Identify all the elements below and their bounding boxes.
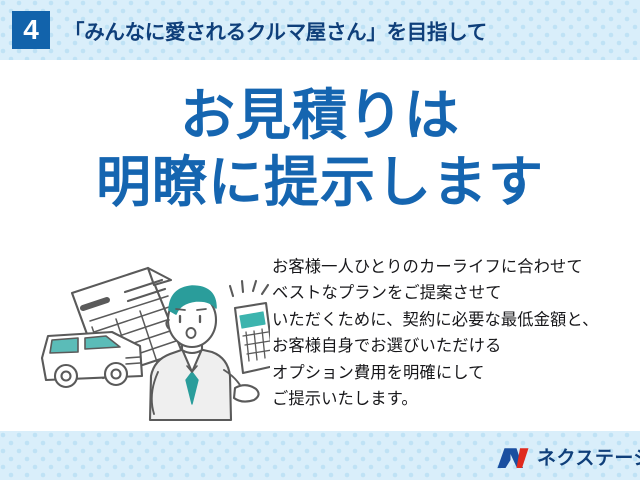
body-line: ご提示いたします。 (272, 386, 632, 412)
header-bar: 4 「みんなに愛されるクルマ屋さん」を目指して (0, 0, 640, 59)
brand-logo: ネクステージ (496, 447, 640, 469)
body-copy: お客様一人ひとりのカーライフに合わせて ベストなプランをご提案させて いただくた… (272, 254, 632, 412)
body-line: お客様自身でお選びいただける (272, 333, 632, 359)
headline-line-1: お見積りは (0, 82, 640, 149)
body-line: お客様一人ひとりのカーライフに合わせて (272, 254, 632, 280)
calculator-icon (235, 303, 270, 373)
body-line: ベストなプランをご提案させて (272, 280, 632, 306)
brand-logo-text: ネクステージ (537, 449, 640, 468)
sparkle-icon (230, 281, 268, 296)
slide-root: 4 「みんなに愛されるクルマ屋さん」を目指して お見積りは 明瞭に提示します お… (0, 0, 640, 480)
page-headline: お見積りは 明瞭に提示します (0, 82, 640, 216)
headline-line-2: 明瞭に提示します (0, 149, 640, 216)
nextage-n-mark-icon (496, 447, 530, 469)
header-title: 「みんなに愛されるクルマ屋さん」を目指して (64, 15, 487, 45)
salesman-illustration-icon (30, 248, 270, 423)
section-number-badge: 4 (12, 11, 50, 49)
van-icon (42, 332, 142, 387)
body-line: いただくために、契約に必要な最低金額と、 (272, 307, 632, 333)
body-line: オプション費用を明確にして (272, 360, 632, 386)
content-panel: お見積りは 明瞭に提示します お客様一人ひとりのカーライフに合わせて ベストなプ… (0, 60, 640, 431)
